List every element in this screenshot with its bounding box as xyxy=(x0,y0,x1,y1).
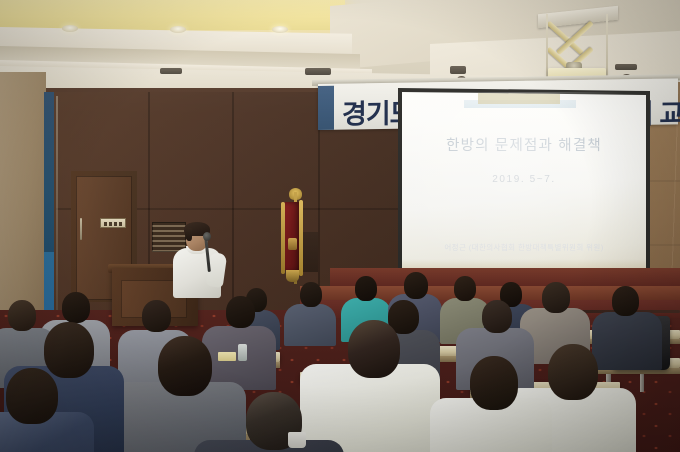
attendee-torso xyxy=(284,304,336,346)
flag-gold-trim xyxy=(299,200,303,276)
downlight-icon xyxy=(62,25,78,32)
handout-paper xyxy=(218,352,236,361)
attendee-head xyxy=(612,286,639,316)
attendee-head xyxy=(404,272,428,299)
attendee-head xyxy=(6,368,58,424)
wall-pipe xyxy=(56,96,58,316)
attendee-head xyxy=(355,276,377,301)
attendee-head xyxy=(454,276,476,301)
slide-date: 2019. 5~7. xyxy=(402,174,646,185)
ceiling-speaker-icon xyxy=(160,68,182,74)
attendee-head xyxy=(548,344,598,400)
ceiling-speaker-icon xyxy=(450,66,466,74)
flag-emblem-icon xyxy=(288,238,297,250)
attendee-head xyxy=(8,300,36,331)
paper-cup xyxy=(288,432,306,448)
lecture-hall-photo: 경기도 의 교 한방의 문제점과 해결책 2019. 5~7. 어정근 (대한의… xyxy=(0,0,680,452)
wall-panel-seam xyxy=(232,92,234,318)
slide-title: 한방의 문제점과 해결책 xyxy=(402,134,646,155)
flag-gold-trim xyxy=(281,202,285,274)
attendee-head xyxy=(226,296,255,328)
attendee-head xyxy=(542,282,570,313)
attendee-head xyxy=(348,320,400,378)
presenter-hair-side xyxy=(185,228,192,241)
flag-tassel xyxy=(286,270,299,282)
attendee-head xyxy=(470,356,518,410)
attendee-head xyxy=(482,300,512,333)
slide-author: 어정근 (대한의사협회 한방대책특별위원회 위원) xyxy=(402,242,646,253)
ceiling-speaker-icon xyxy=(615,64,637,70)
door-sign-plaque xyxy=(100,218,126,228)
wall-vent-grille xyxy=(152,222,186,252)
cove-light-left xyxy=(0,0,345,30)
slide-header-image xyxy=(478,92,560,104)
wall-blue-strip-lower xyxy=(44,252,54,314)
banner-left-edge xyxy=(318,86,334,130)
downlight-icon xyxy=(170,26,186,33)
attendee-head xyxy=(44,322,94,378)
attendee-head xyxy=(142,300,171,332)
projection-screen: 한방의 문제점과 해결책 2019. 5~7. 어정근 (대한의사협회 한방대책… xyxy=(402,92,646,275)
attendee-head xyxy=(62,292,90,323)
water-bottle xyxy=(238,344,247,361)
attendee-head xyxy=(300,282,322,307)
ceremonial-flag xyxy=(280,192,310,284)
attendee-head xyxy=(158,336,212,396)
microphone-icon xyxy=(203,232,211,241)
ceiling-speaker-icon xyxy=(305,68,331,75)
attendee-torso xyxy=(592,312,662,370)
downlight-icon xyxy=(272,26,288,33)
door-handle[interactable] xyxy=(80,218,82,240)
